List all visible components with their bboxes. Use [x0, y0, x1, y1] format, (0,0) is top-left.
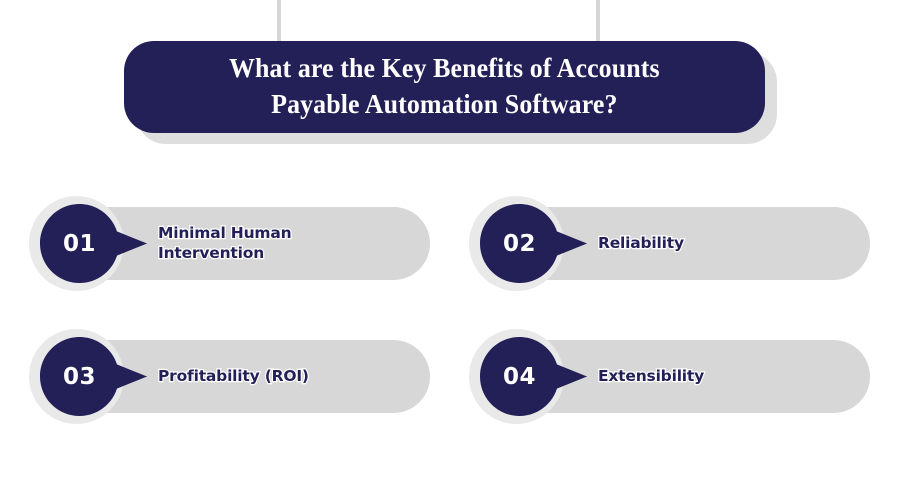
benefit-badge: 03 [37, 334, 149, 419]
benefit-number: 01 [40, 204, 119, 283]
benefit-label: Minimal Human Intervention [158, 207, 291, 280]
benefit-label: Reliability [598, 207, 684, 280]
benefit-badge: 01 [37, 201, 149, 286]
benefit-number: 02 [480, 204, 559, 283]
infographic-canvas: What are the Key Benefits of Accounts Pa… [0, 0, 900, 500]
benefit-label: Extensibility [598, 340, 704, 413]
benefit-card-03[interactable]: 03 Profitability (ROI) [35, 340, 430, 413]
page-title: What are the Key Benefits of Accounts Pa… [204, 51, 685, 122]
benefit-number: 03 [40, 337, 119, 416]
benefit-card-02[interactable]: 02 Reliability [475, 207, 870, 280]
benefit-card-04[interactable]: 04 Extensibility [475, 340, 870, 413]
benefit-number: 04 [480, 337, 559, 416]
title-banner: What are the Key Benefits of Accounts Pa… [124, 41, 765, 133]
benefit-label: Profitability (ROI) [158, 340, 309, 413]
benefit-badge: 02 [477, 201, 589, 286]
benefit-card-01[interactable]: 01 Minimal Human Intervention [35, 207, 430, 280]
benefit-badge: 04 [477, 334, 589, 419]
